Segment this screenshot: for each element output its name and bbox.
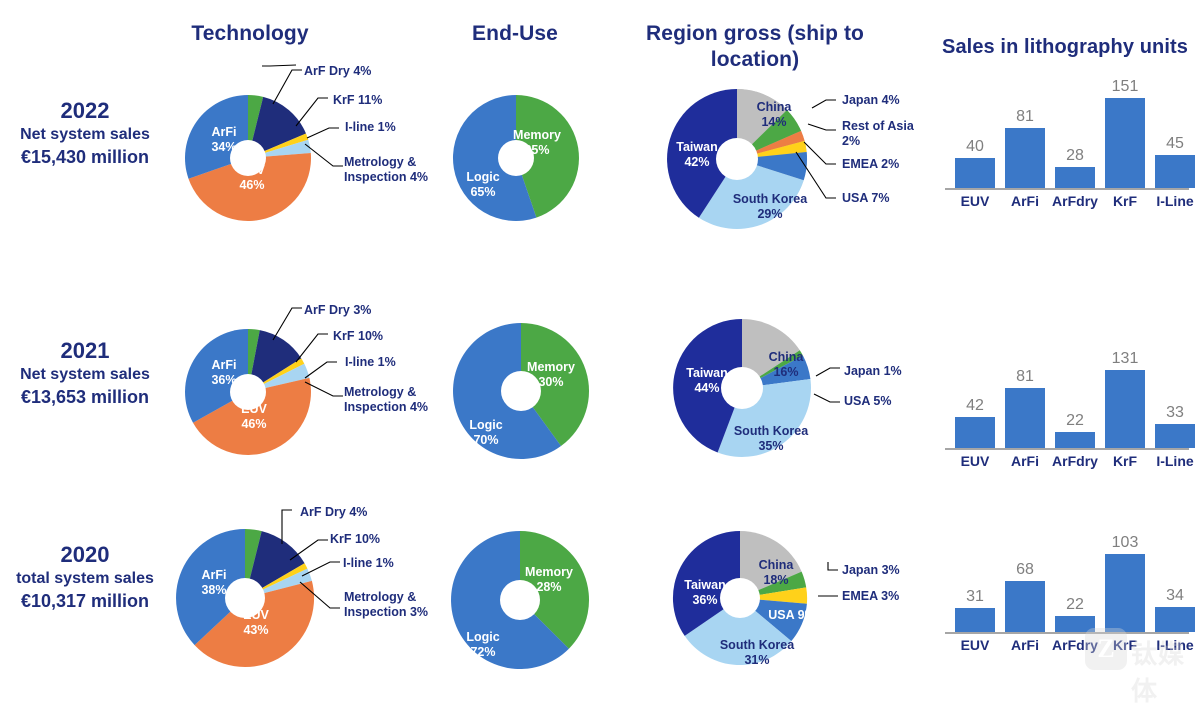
callout-japan-2022: Japan 4%	[842, 93, 900, 108]
bar-category-arfdry-2022: ArFdry	[1049, 192, 1101, 210]
bar-value-arfi-2020: 68	[1003, 561, 1047, 579]
bar-category-euv-2020: EUV	[949, 636, 1001, 654]
donut-hole	[230, 374, 266, 410]
column-title-technology: Technology	[150, 21, 350, 47]
bar-krf-2021	[1105, 370, 1145, 448]
leader-usa-2022	[790, 150, 848, 206]
bar-value-krf-2020: 103	[1103, 534, 1147, 552]
pie-region-2020	[672, 530, 808, 666]
row-sales-caption: total system sales	[0, 568, 175, 589]
callout-rest-of-asia-2022: Rest of Asia 2%	[842, 119, 928, 149]
bar-iline-2020	[1155, 607, 1195, 632]
bar-euv-2020	[955, 608, 995, 632]
bar-category-krf-2020: KrF	[1099, 636, 1151, 654]
bar-arfdry-2022	[1055, 167, 1095, 188]
donut-hole	[500, 580, 540, 620]
column-title-units: Sales in lithography units	[935, 35, 1195, 60]
bar-value-iline-2020: 34	[1153, 587, 1197, 605]
callout-arf-dry-2020: ArF Dry 4%	[300, 505, 367, 520]
bar-category-arfi-2020: ArFi	[999, 636, 1051, 654]
donut-hole	[230, 140, 266, 176]
callout-emea-2020: EMEA 3%	[842, 589, 899, 604]
row-year: 2022	[0, 98, 175, 124]
bar-value-arfi-2021: 81	[1003, 368, 1047, 386]
bar-category-krf-2022: KrF	[1099, 192, 1151, 210]
infographic-canvas: Technology End-Use Region gross (ship to…	[0, 0, 1200, 700]
callout-metrology-2020: Metrology & Inspection 3%	[344, 590, 464, 620]
callout-krf-2022: KrF 11%	[333, 93, 382, 108]
callout-metrology-2022: Metrology & Inspection 4%	[344, 155, 464, 185]
bar-arfi-2022	[1005, 128, 1045, 188]
pie-end-use-2021	[452, 322, 590, 460]
row-sales-amount: €10,317 million	[0, 589, 175, 613]
leader-metrology-2020	[296, 580, 350, 620]
row-sales-caption: Net system sales	[0, 124, 175, 145]
bar-chart-units-2022: 40 81 28 151 45 EUV ArFi ArFdry KrF I-Li…	[945, 82, 1195, 212]
bar-category-arfdry-2020: ArFdry	[1049, 636, 1101, 654]
leader-rest-of-asia-2022	[804, 124, 846, 146]
column-title-region: Region gross (ship to location)	[600, 21, 910, 73]
bar-value-arfi-2022: 81	[1003, 108, 1047, 126]
callout-arf-dry-2022: ArF Dry 4%	[304, 64, 371, 79]
bar-category-krf-2021: KrF	[1099, 452, 1151, 470]
donut-hole	[501, 371, 541, 411]
donut-hole	[716, 138, 758, 180]
bar-value-euv-2021: 42	[953, 397, 997, 415]
callout-iline-2022: I-line 1%	[345, 120, 396, 135]
callout-iline-2020: I-line 1%	[343, 556, 394, 571]
bar-value-euv-2022: 40	[953, 138, 997, 156]
bar-category-iline-2021: I-Line	[1149, 452, 1200, 470]
callout-japan-2021: Japan 1%	[844, 364, 902, 379]
pie-end-use-2022	[452, 94, 580, 222]
row-sales-amount: €13,653 million	[0, 385, 175, 409]
row-year: 2021	[0, 338, 175, 364]
row-sales-amount: €15,430 million	[0, 145, 175, 169]
bar-chart-units-2020: 31 68 22 103 34 EUV ArFi ArFdry KrF I-Li…	[945, 552, 1195, 682]
bar-category-iline-2020: I-Line	[1149, 636, 1200, 654]
bar-iline-2022	[1155, 155, 1195, 188]
bar-arfi-2021	[1005, 388, 1045, 448]
bar-axis-2021	[945, 448, 1189, 450]
row-sales-caption: Net system sales	[0, 364, 175, 385]
row-label-2021: 2021 Net system sales €13,653 million	[0, 338, 175, 409]
bar-category-arfdry-2021: ArFdry	[1049, 452, 1101, 470]
bar-value-arfdry-2022: 28	[1053, 147, 1097, 165]
pie-region-2022	[666, 88, 808, 230]
bar-value-arfdry-2020: 22	[1053, 596, 1097, 614]
bar-value-arfdry-2021: 22	[1053, 412, 1097, 430]
callout-arf-dry-2021: ArF Dry 3%	[304, 303, 371, 318]
bar-category-arfi-2022: ArFi	[999, 192, 1051, 210]
pie-end-use-2020	[450, 530, 590, 670]
row-year: 2020	[0, 542, 175, 568]
callout-usa-2022: USA 7%	[842, 191, 889, 206]
row-label-2022: 2022 Net system sales €15,430 million	[0, 98, 175, 169]
bar-chart-units-2021: 42 81 22 131 33 EUV ArFi ArFdry KrF I-Li…	[945, 350, 1195, 480]
bar-arfdry-2021	[1055, 432, 1095, 448]
bar-axis-2020	[945, 632, 1189, 634]
bar-value-euv-2020: 31	[953, 588, 997, 606]
bar-iline-2021	[1155, 424, 1195, 448]
bar-krf-2020	[1105, 554, 1145, 632]
bar-category-euv-2022: EUV	[949, 192, 1001, 210]
bar-category-iline-2022: I-Line	[1149, 192, 1200, 210]
bar-euv-2022	[955, 158, 995, 188]
bar-arfdry-2020	[1055, 616, 1095, 632]
bar-category-euv-2021: EUV	[949, 452, 1001, 470]
bar-value-krf-2022: 151	[1103, 78, 1147, 96]
bar-value-iline-2021: 33	[1153, 404, 1197, 422]
callout-iline-2021: I-line 1%	[345, 355, 396, 370]
row-label-2020: 2020 total system sales €10,317 million	[0, 542, 175, 613]
bar-value-krf-2021: 131	[1103, 350, 1147, 368]
callout-emea-2022: EMEA 2%	[842, 157, 899, 172]
donut-hole	[720, 578, 760, 618]
callout-japan-2020: Japan 3%	[842, 563, 900, 578]
bar-category-arfi-2021: ArFi	[999, 452, 1051, 470]
column-title-end-use: End-Use	[420, 21, 610, 47]
callout-metrology-2021: Metrology & Inspection 4%	[344, 385, 464, 415]
donut-hole	[225, 578, 265, 618]
donut-hole	[498, 140, 534, 176]
bar-krf-2022	[1105, 98, 1145, 188]
bar-arfi-2020	[1005, 581, 1045, 632]
callout-krf-2021: KrF 10%	[333, 329, 383, 344]
callout-usa-2021: USA 5%	[844, 394, 891, 409]
callout-krf-2020: KrF 10%	[330, 532, 380, 547]
pie-region-2021	[672, 318, 812, 458]
bar-euv-2021	[955, 417, 995, 448]
bar-value-iline-2022: 45	[1153, 135, 1197, 153]
bar-axis-2022	[945, 188, 1189, 190]
donut-hole	[721, 367, 763, 409]
